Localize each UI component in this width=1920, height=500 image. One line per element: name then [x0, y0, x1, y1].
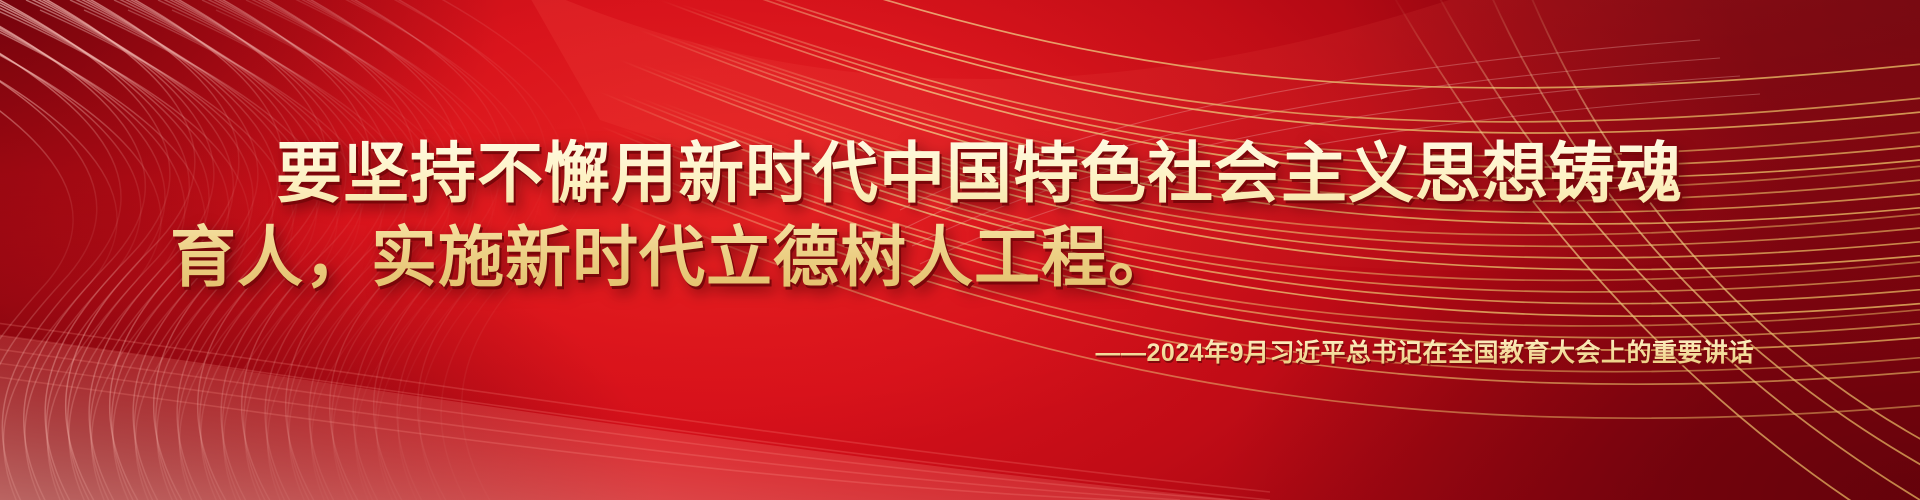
headline: 要坚持不懈用新时代中国特色社会主义思想铸魂 育人，实施新时代立德树人工程。 [170, 131, 1800, 300]
headline-line-2: 育人，实施新时代立德树人工程。 [170, 215, 1800, 299]
red-banner: 要坚持不懈用新时代中国特色社会主义思想铸魂 育人，实施新时代立德树人工程。 ——… [0, 0, 1920, 500]
attribution-source: ——2024年9月习近平总书记在全国教育大会上的重要讲话 [170, 333, 1754, 369]
banner-content: 要坚持不懈用新时代中国特色社会主义思想铸魂 育人，实施新时代立德树人工程。 ——… [0, 0, 1920, 500]
headline-line-1: 要坚持不懈用新时代中国特色社会主义思想铸魂 [170, 131, 1800, 215]
